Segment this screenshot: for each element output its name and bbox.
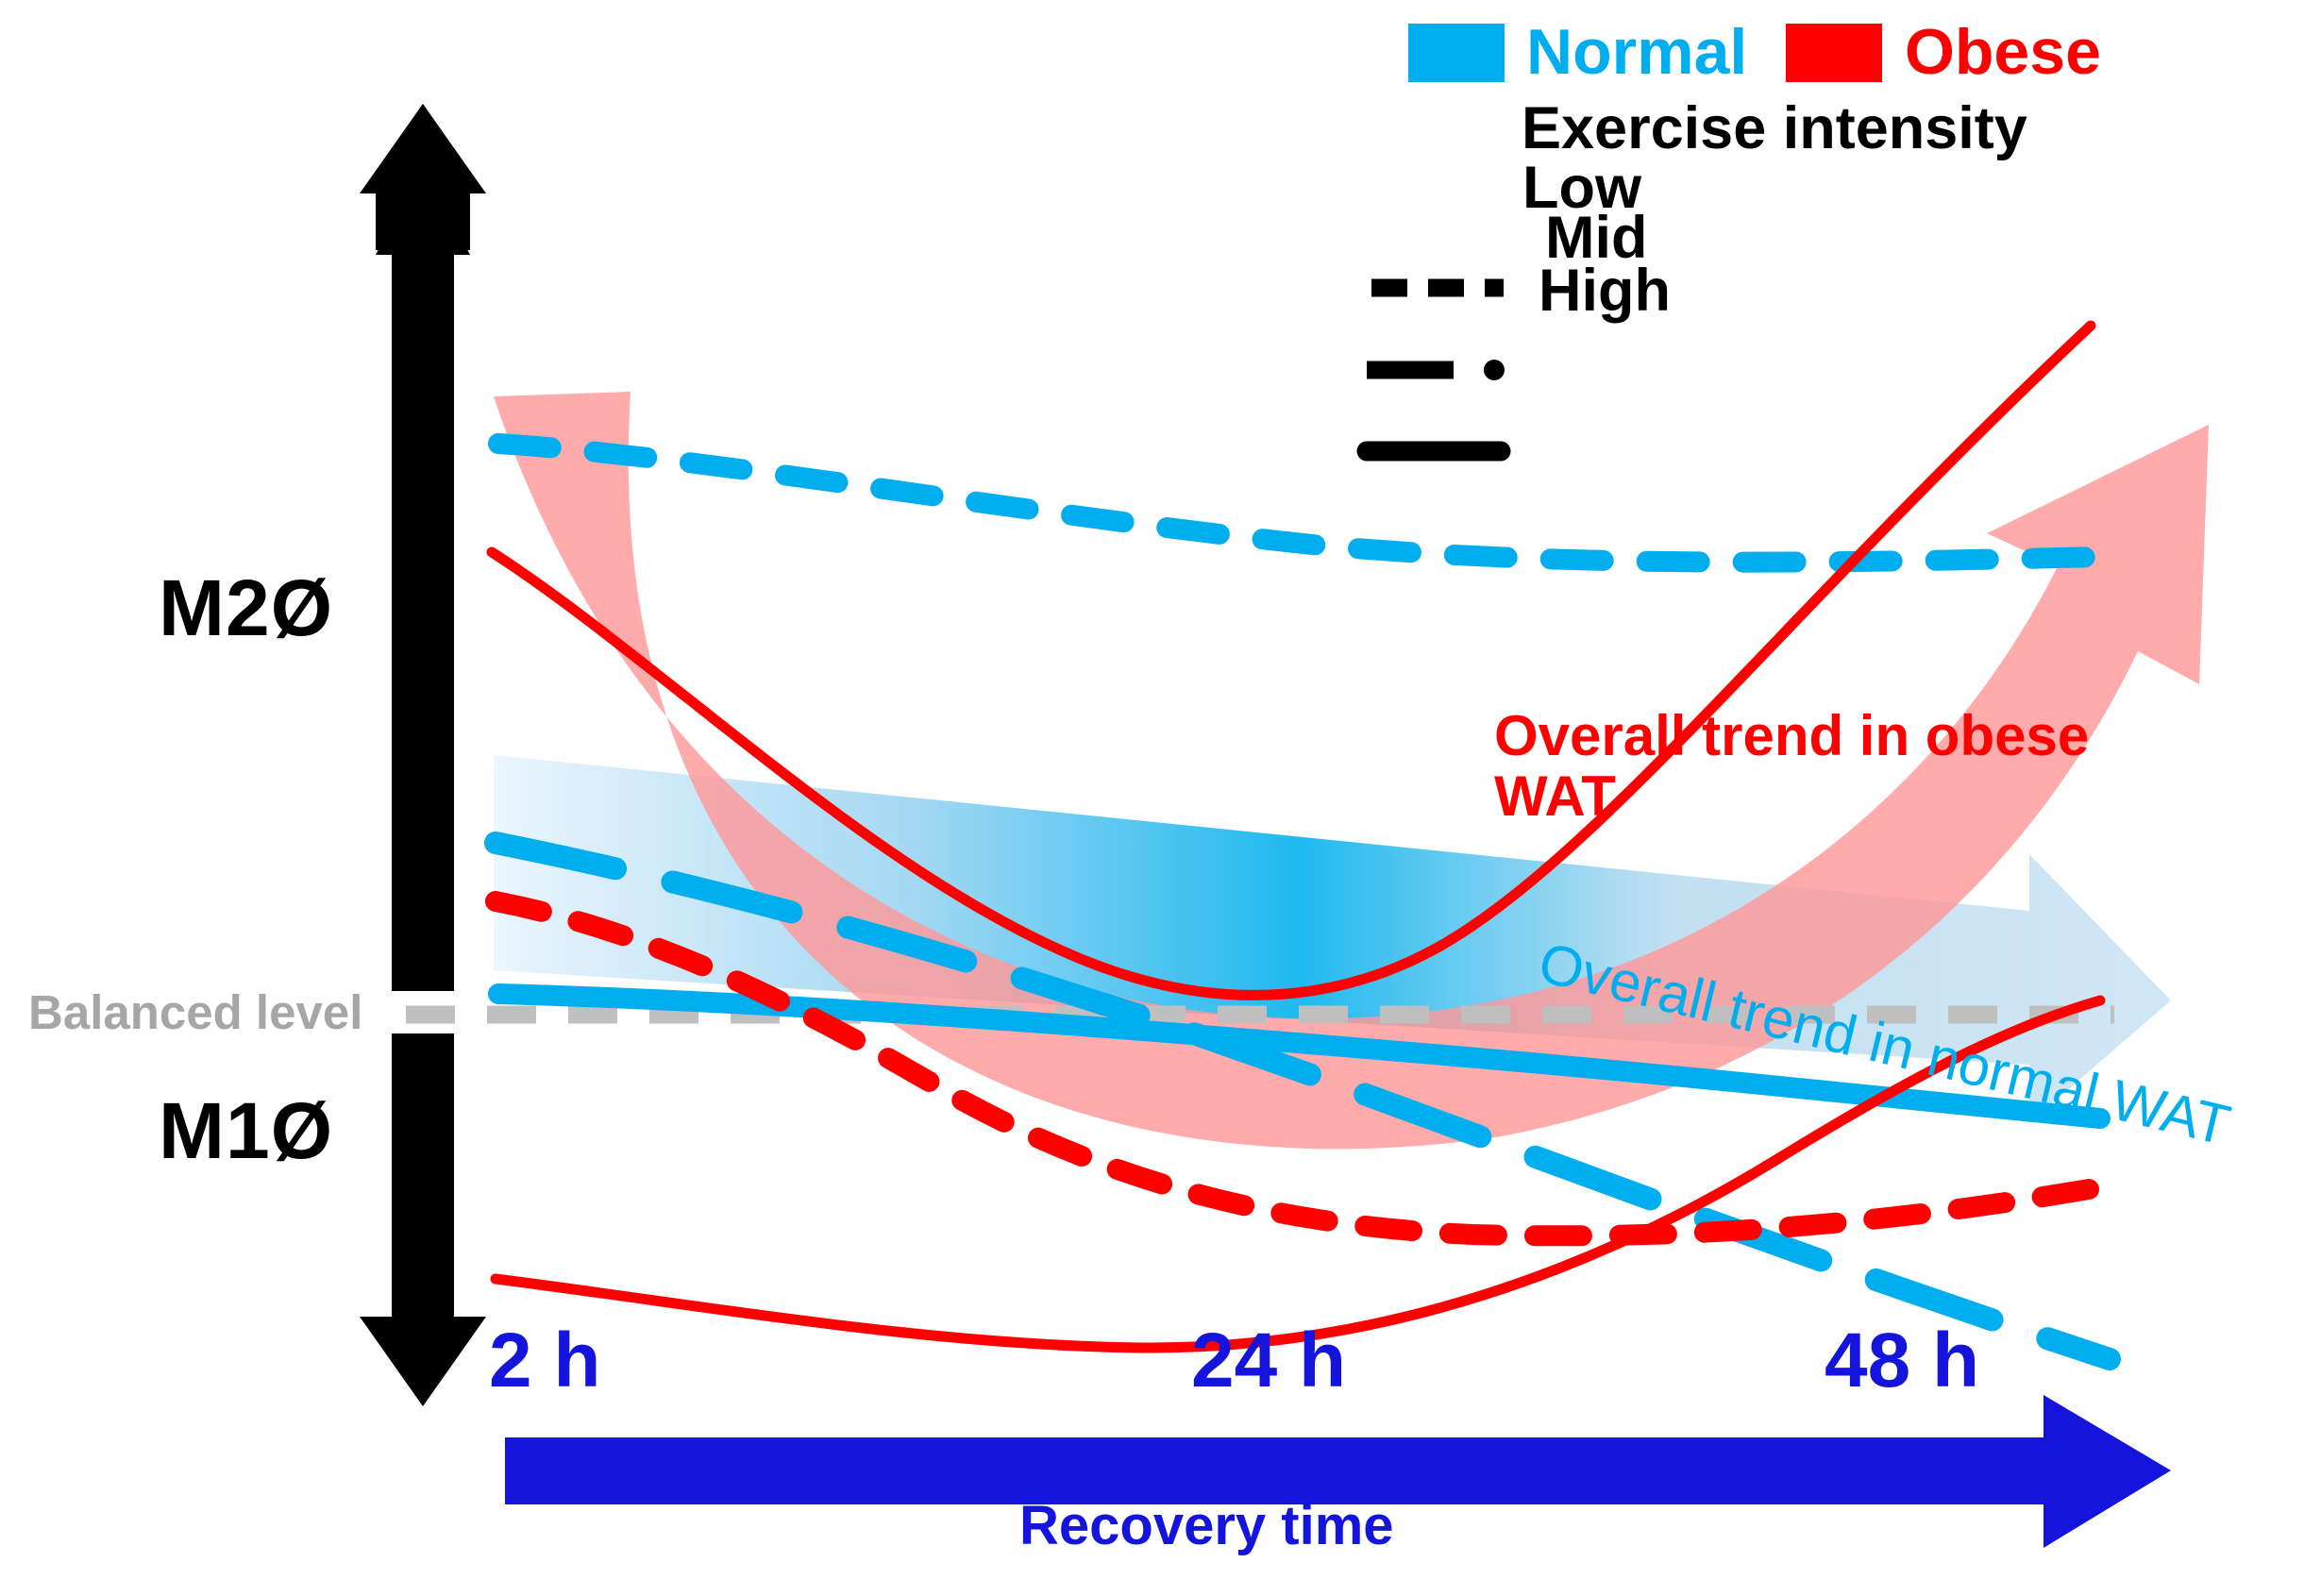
legend-intensity-title: Exercise intensity <box>1522 94 2027 162</box>
legend-normal-label: Normal <box>1526 15 1747 89</box>
legend-normal-swatch <box>1408 24 1505 82</box>
x-axis-tick-24h: 24 h <box>1191 1317 1346 1405</box>
y-axis-top-label: M2Ø <box>159 563 333 654</box>
x-axis-tick-2h: 2 h <box>489 1317 600 1405</box>
legend-obese-swatch <box>1786 24 1882 82</box>
legend-line-samples <box>1367 288 1505 451</box>
legend-item-high-label: High <box>1539 257 1671 325</box>
y-axis-arrow <box>360 104 486 1406</box>
x-axis-tick-48h: 48 h <box>1825 1317 1979 1405</box>
obese-trend-annotation: Overall trend in obese WAT <box>1494 706 2155 827</box>
x-axis-title: Recovery time <box>1019 1494 1394 1557</box>
legend-obese-label: Obese <box>1905 15 2101 89</box>
balanced-level-label: Balanced level <box>28 984 362 1040</box>
legend-mid-line-dot <box>1484 360 1505 380</box>
curve-normal-low <box>498 444 2100 563</box>
y-axis-bottom-label: M1Ø <box>159 1085 333 1177</box>
